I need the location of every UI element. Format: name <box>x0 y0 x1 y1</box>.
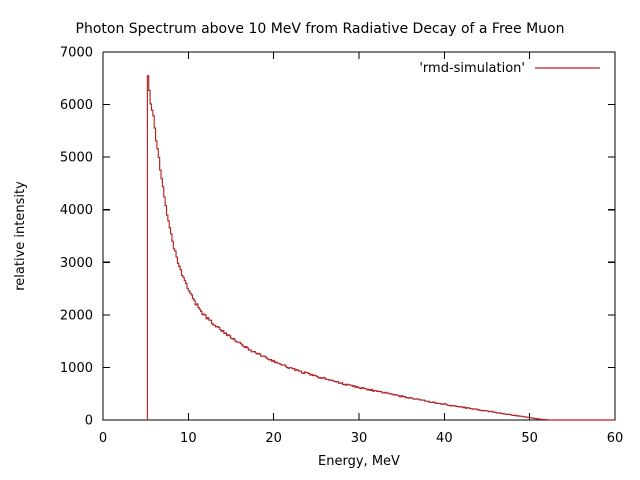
chart-canvas: Photon Spectrum above 10 MeV from Radiat… <box>0 0 640 480</box>
x-tick-label: 30 <box>351 431 368 446</box>
x-tick-label: 10 <box>180 431 197 446</box>
x-tick-label: 20 <box>265 431 282 446</box>
y-axis-title: relative intensity <box>13 181 28 291</box>
chart-background <box>0 0 640 480</box>
y-tick-label: 0 <box>85 414 93 429</box>
x-axis-title: Energy, MeV <box>318 454 400 469</box>
legend-entry-label: 'rmd-simulation' <box>419 61 525 76</box>
chart-title: Photon Spectrum above 10 MeV from Radiat… <box>76 21 565 37</box>
y-tick-label: 5000 <box>60 151 93 166</box>
y-tick-label: 1000 <box>60 361 93 376</box>
x-tick-label: 60 <box>607 431 624 446</box>
x-tick-label: 0 <box>99 431 107 446</box>
y-tick-label: 6000 <box>60 98 93 113</box>
y-tick-label: 3000 <box>60 256 93 271</box>
photon-spectrum-chart: Photon Spectrum above 10 MeV from Radiat… <box>0 0 640 480</box>
y-tick-label: 4000 <box>60 203 93 218</box>
x-tick-label: 40 <box>436 431 453 446</box>
y-tick-label: 2000 <box>60 308 93 323</box>
x-tick-label: 50 <box>521 431 538 446</box>
y-tick-label: 7000 <box>60 46 93 61</box>
